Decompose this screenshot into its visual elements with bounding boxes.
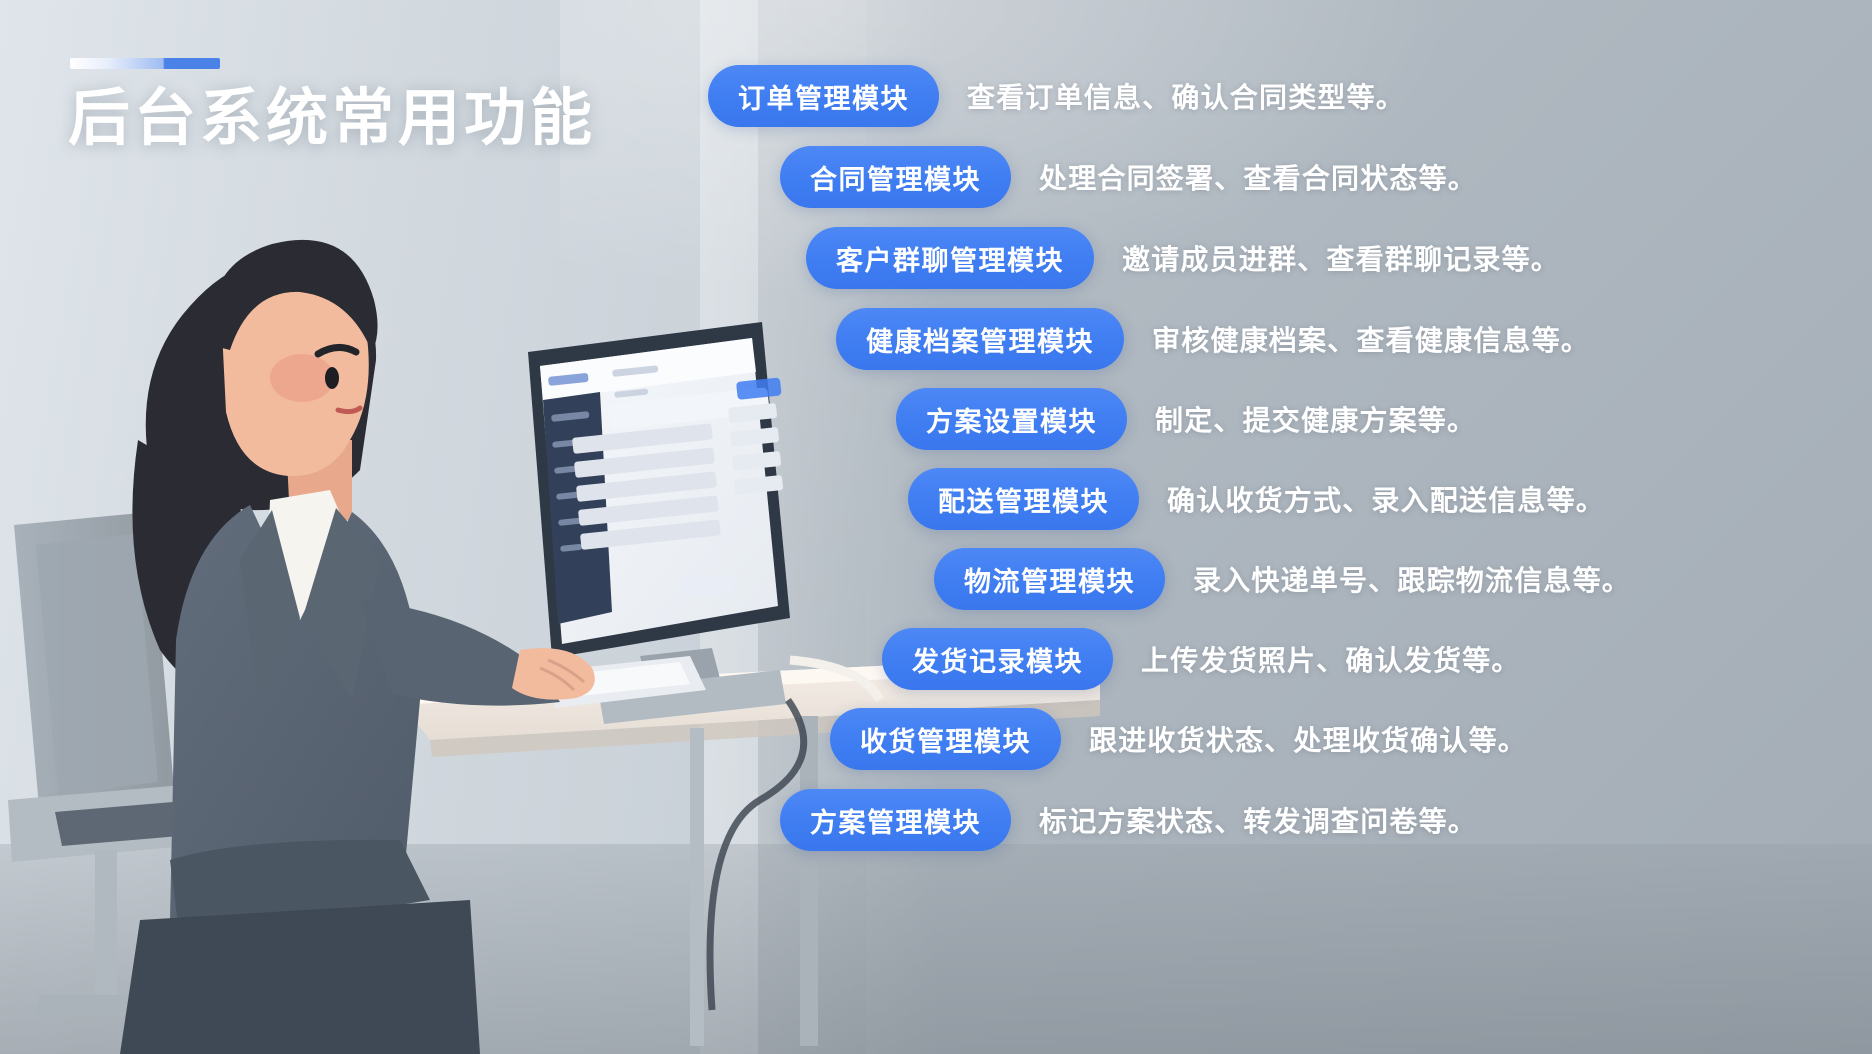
- module-row[interactable]: 物流管理模块 录入快递单号、跟踪物流信息等。: [934, 548, 1631, 610]
- module-row[interactable]: 发货记录模块 上传发货照片、确认发货等。: [882, 628, 1521, 690]
- title-accent-bar: [70, 58, 220, 69]
- module-row[interactable]: 合同管理模块 处理合同签署、查看合同状态等。: [780, 146, 1477, 208]
- module-description: 录入快递单号、跟踪物流信息等。: [1193, 559, 1631, 599]
- module-pill[interactable]: 订单管理模块: [708, 65, 939, 127]
- module-description: 确认收货方式、录入配送信息等。: [1167, 479, 1605, 519]
- module-pill[interactable]: 健康档案管理模块: [836, 308, 1124, 370]
- module-description: 上传发货照片、确认发货等。: [1141, 639, 1521, 679]
- module-description: 邀请成员进群、查看群聊记录等。: [1122, 238, 1560, 278]
- module-pill[interactable]: 物流管理模块: [934, 548, 1165, 610]
- module-pill[interactable]: 发货记录模块: [882, 628, 1113, 690]
- page-title: 后台系统常用功能: [68, 88, 596, 150]
- module-pill[interactable]: 收货管理模块: [830, 708, 1061, 770]
- module-row[interactable]: 健康档案管理模块 审核健康档案、查看健康信息等。: [836, 308, 1590, 370]
- module-description: 审核健康档案、查看健康信息等。: [1152, 319, 1590, 359]
- module-pill[interactable]: 合同管理模块: [780, 146, 1011, 208]
- module-description: 查看订单信息、确认合同类型等。: [967, 76, 1405, 116]
- module-row[interactable]: 方案管理模块 标记方案状态、转发调查问卷等。: [780, 789, 1477, 851]
- module-pill[interactable]: 客户群聊管理模块: [806, 227, 1094, 289]
- module-description: 标记方案状态、转发调查问卷等。: [1039, 800, 1477, 840]
- poster-canvas: 订单管理模块 查看订单信息、确认合同类型等。 合同管理模块 处理合同签署、查看合…: [0, 0, 1872, 1054]
- module-pill[interactable]: 配送管理模块: [908, 468, 1139, 530]
- module-pill[interactable]: 方案设置模块: [896, 388, 1127, 450]
- module-description: 跟进收货状态、处理收货确认等。: [1089, 719, 1527, 759]
- module-row[interactable]: 收货管理模块 跟进收货状态、处理收货确认等。: [830, 708, 1527, 770]
- module-row[interactable]: 方案设置模块 制定、提交健康方案等。: [896, 388, 1476, 450]
- module-row[interactable]: 订单管理模块 查看订单信息、确认合同类型等。: [708, 65, 1405, 127]
- module-description: 处理合同签署、查看合同状态等。: [1039, 157, 1477, 197]
- module-description: 制定、提交健康方案等。: [1155, 399, 1476, 439]
- module-row[interactable]: 配送管理模块 确认收货方式、录入配送信息等。: [908, 468, 1605, 530]
- module-row[interactable]: 客户群聊管理模块 邀请成员进群、查看群聊记录等。: [806, 227, 1560, 289]
- module-pill[interactable]: 方案管理模块: [780, 789, 1011, 851]
- person-illustration: [120, 240, 595, 1054]
